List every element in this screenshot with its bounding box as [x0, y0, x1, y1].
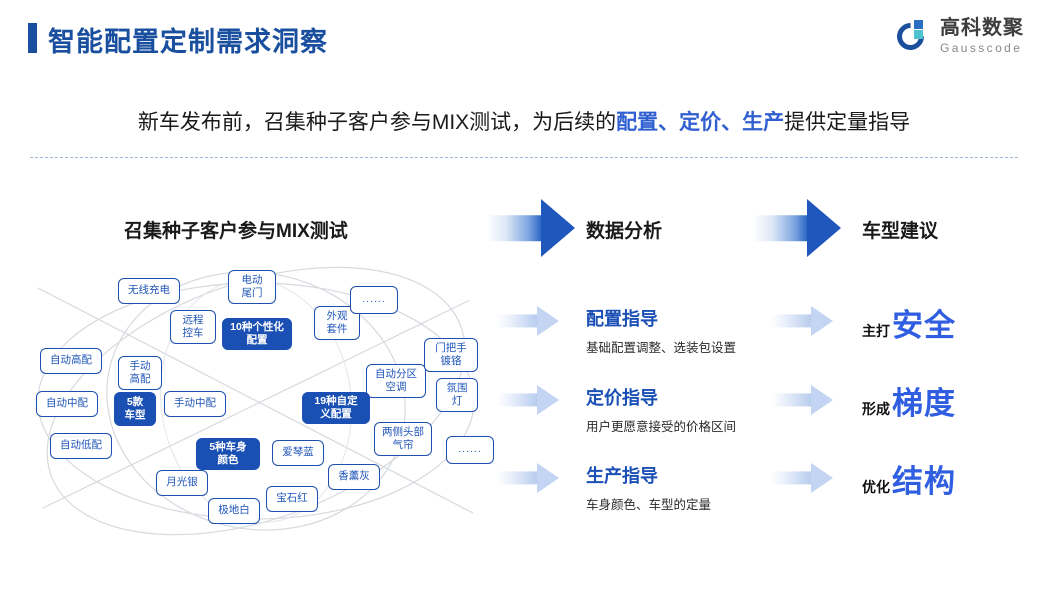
company-logo: 高科数聚 Gausscode [897, 18, 1024, 54]
advice-structure-prefix: 优化 [862, 477, 890, 497]
section-divider [30, 157, 1018, 158]
guidance-arrow-2-icon [497, 385, 559, 415]
guidance-production-desc: 车身颜色、车型的定量 [586, 494, 711, 513]
guidance-pricing-title: 定价指导 [586, 384, 736, 410]
diagram-tag: 门把手 镀铬 [424, 338, 478, 372]
advice-arrow-2-icon [771, 385, 833, 415]
guidance-config: 配置指导 基础配置调整、选装包设置 [586, 305, 736, 356]
diagram-tag: 宝石红 [266, 486, 318, 512]
advice-safety-word: 安全 [892, 300, 956, 345]
logo-text: 高科数聚 Gausscode [940, 18, 1024, 54]
column-header-collect: 召集种子客户参与MIX测试 [124, 216, 348, 243]
diagram-tag: 手动中配 [164, 391, 226, 417]
diagram-tag: ...... [446, 436, 494, 464]
guidance-pricing: 定价指导 用户更愿意接受的价格区间 [586, 384, 736, 435]
diagram-tag: 无线充电 [118, 278, 180, 304]
diagram-tag: ...... [350, 286, 398, 314]
diagram-tag: 手动 高配 [118, 356, 162, 390]
page-title: 智能配置定制需求洞察 [48, 20, 328, 59]
slide-header: 智能配置定制需求洞察 高科数聚 Gausscode [0, 0, 1048, 82]
diagram-tag: 两侧头部 气帘 [374, 422, 432, 456]
guidance-config-desc: 基础配置调整、选装包设置 [586, 337, 736, 356]
logo-name-cn: 高科数聚 [940, 18, 1024, 38]
logo-mark-icon [897, 19, 931, 53]
advice-arrow-3-icon [771, 463, 833, 493]
advice-gradient-prefix: 形成 [862, 399, 890, 419]
diagram-tag: 自动高配 [40, 348, 102, 374]
advice-gradient: 形成 梯度 [862, 378, 956, 423]
diagram-tag: 5款 车型 [114, 392, 156, 426]
guidance-production: 生产指导 车身颜色、车型的定量 [586, 462, 711, 513]
logo-square-teal-icon [914, 30, 923, 39]
advice-structure: 优化 结构 [862, 456, 956, 501]
logo-square-dark-icon [914, 20, 923, 29]
advice-structure-word: 结构 [892, 456, 956, 501]
diagram-tag: 5种车身 颜色 [196, 438, 260, 470]
advice-safety-prefix: 主打 [862, 321, 890, 341]
product-definition-diagram: 产品 定义阶段 无线充电电动 尾门远程 控车10种个性化 配置外观 套件....… [18, 258, 488, 543]
guidance-config-title: 配置指导 [586, 305, 736, 331]
guidance-pricing-desc: 用户更愿意接受的价格区间 [586, 416, 736, 435]
flow-arrow-1-icon [487, 199, 575, 257]
diagram-tag: 爱琴蓝 [272, 440, 324, 466]
guidance-arrow-3-icon [497, 463, 559, 493]
guidance-production-title: 生产指导 [586, 462, 711, 488]
subtitle-part-1: 新车发布前，召集种子客户参与MIX测试，为后续的 [138, 111, 616, 134]
logo-ring-shape [891, 17, 929, 55]
subtitle: 新车发布前，召集种子客户参与MIX测试，为后续的配置、定价、生产提供定量指导 [0, 106, 1048, 136]
column-header-advice: 车型建议 [862, 216, 938, 243]
diagram-tag: 氛围 灯 [436, 378, 478, 412]
advice-gradient-word: 梯度 [892, 378, 956, 423]
subtitle-highlight: 配置、定价、生产 [616, 111, 784, 134]
diagram-tag: 自动分区 空调 [366, 364, 426, 398]
diagram-tag: 远程 控车 [170, 310, 216, 344]
subtitle-part-2: 提供定量指导 [784, 111, 910, 134]
diagram-tag: 月光银 [156, 470, 208, 496]
advice-arrow-1-icon [771, 306, 833, 336]
advice-safety: 主打 安全 [862, 300, 956, 345]
diagram-tag: 香薰灰 [328, 464, 380, 490]
title-accent-bar [28, 23, 37, 53]
diagram-tag: 自动低配 [50, 433, 112, 459]
diagram-tag: 自动中配 [36, 391, 98, 417]
diagram-tag: 电动 尾门 [228, 270, 276, 304]
logo-name-en: Gausscode [940, 42, 1024, 54]
guidance-arrow-1-icon [497, 306, 559, 336]
column-header-analysis: 数据分析 [586, 216, 662, 243]
flow-arrow-2-icon [753, 199, 841, 257]
diagram-tag: 19种自定 义配置 [302, 392, 370, 424]
diagram-tag: 极地白 [208, 498, 260, 524]
slide-root: 智能配置定制需求洞察 高科数聚 Gausscode 新车发布前，召集种子客户参与… [0, 0, 1048, 589]
diagram-tag: 10种个性化 配置 [222, 318, 292, 350]
